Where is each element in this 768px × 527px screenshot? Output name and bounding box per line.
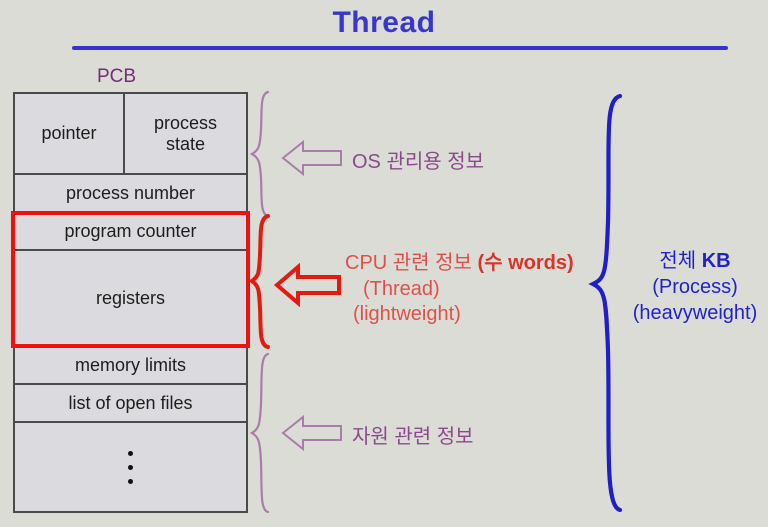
brace-resource-group bbox=[250, 352, 280, 514]
cpu-annotation-line3: (lightweight) bbox=[345, 302, 574, 328]
arrow-os-annotation bbox=[281, 138, 343, 178]
cell-process-state-line1: processstate bbox=[154, 113, 217, 153]
pcb-label: PCB bbox=[97, 66, 136, 88]
brace-os-group bbox=[250, 90, 280, 218]
process-total-text: 전체 KB (Process) (heavyweight) bbox=[625, 248, 765, 326]
brace-process-total bbox=[590, 92, 630, 514]
process-total-line1-plain: 전체 bbox=[659, 250, 701, 272]
table-row: program counter bbox=[15, 213, 246, 251]
table-row-ellipsis bbox=[15, 423, 246, 511]
pcb-table: pointer processstate process number prog… bbox=[13, 92, 248, 513]
cpu-annotation-line2: (Thread) bbox=[345, 277, 574, 303]
table-row: memory limits bbox=[15, 347, 246, 385]
cpu-annotation-line1-plain: CPU 관련 정보 bbox=[345, 252, 478, 274]
process-total-line3: (heavyweight) bbox=[625, 300, 765, 326]
vertical-ellipsis-icon bbox=[128, 423, 133, 511]
cell-pointer: pointer bbox=[15, 94, 125, 173]
cell-process-state: processstate bbox=[125, 94, 246, 173]
resource-annotation-text: 자원 관련 정보 bbox=[352, 420, 474, 449]
table-row: process number bbox=[15, 175, 246, 213]
process-total-line1: 전체 KB bbox=[625, 248, 765, 274]
cpu-annotation-line1-bold: (수 words) bbox=[478, 252, 574, 274]
table-row: pointer processstate bbox=[15, 94, 246, 175]
process-total-line1-bold: KB bbox=[702, 250, 731, 272]
cpu-annotation-text: CPU 관련 정보 (수 words) (Thread) (lightweigh… bbox=[345, 251, 574, 328]
slide-canvas: Thread PCB pointer processstate process … bbox=[0, 0, 768, 527]
process-total-line2: (Process) bbox=[625, 274, 765, 300]
page-title: Thread bbox=[0, 6, 768, 40]
arrow-cpu-annotation bbox=[274, 263, 342, 307]
table-row: list of open files bbox=[15, 385, 246, 423]
cpu-annotation-line1: CPU 관련 정보 (수 words) bbox=[345, 251, 574, 277]
title-divider bbox=[72, 46, 728, 50]
table-row: registers bbox=[15, 251, 246, 347]
os-annotation-text: OS 관리용 정보 bbox=[352, 145, 484, 174]
arrow-resource-annotation bbox=[281, 413, 343, 453]
